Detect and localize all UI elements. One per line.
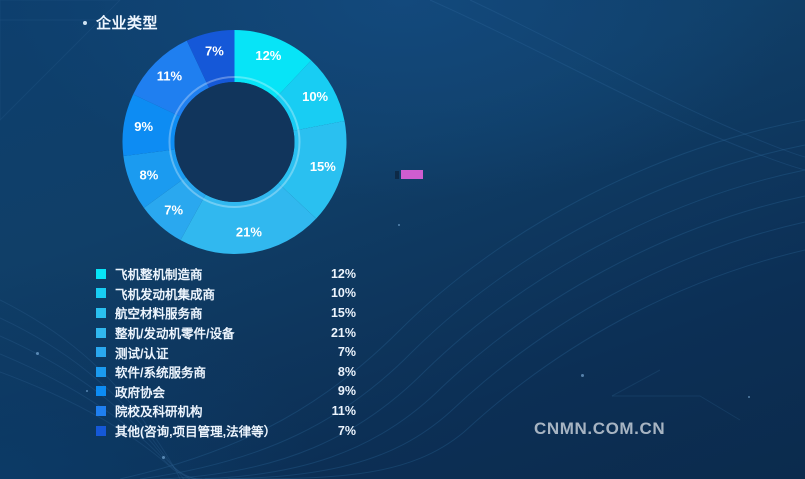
- legend-color-swatch: [96, 426, 106, 436]
- donut-slice-label: 12%: [255, 48, 281, 63]
- legend-color-swatch: [96, 386, 106, 396]
- enterprise-legend-row[interactable]: 政府协会9%: [96, 382, 356, 402]
- legend-value: 12%: [310, 267, 356, 281]
- enterprise-legend-row[interactable]: 整机/发动机零件/设备21%: [96, 323, 356, 343]
- bullet-dot-icon: [83, 21, 87, 25]
- legend-value: 10%: [310, 286, 356, 300]
- enterprise-type-donut-chart: 12%10%15%21%7%8%9%11%7%: [112, 28, 357, 256]
- legend-value: 8%: [310, 365, 356, 379]
- legend-label: 航空材料服务商: [115, 303, 310, 322]
- enterprise-legend-row[interactable]: 航空材料服务商15%: [96, 303, 356, 323]
- legend-label: 软件/系统服务商: [115, 362, 310, 381]
- legend-label: 其他(咨询,项目管理,法律等）: [115, 421, 310, 440]
- enterprise-legend-row[interactable]: 飞机发动机集成商10%: [96, 284, 356, 304]
- legend-value: 7%: [310, 424, 356, 438]
- enterprise-legend-row[interactable]: 飞机整机制造商12%: [96, 264, 356, 284]
- legend-label: 飞机发动机集成商: [115, 284, 310, 303]
- legend-color-swatch: [96, 367, 106, 377]
- enterprise-legend-row[interactable]: 测试/认证7%: [96, 342, 356, 362]
- legend-color-swatch: [96, 288, 106, 298]
- render-artifact-dot: [395, 171, 399, 179]
- legend-label: 飞机整机制造商: [115, 264, 310, 283]
- donut-slice-label: 7%: [205, 44, 224, 59]
- legend-color-swatch: [96, 269, 106, 279]
- legend-value: 9%: [310, 384, 356, 398]
- legend-color-swatch: [96, 347, 106, 357]
- legend-color-swatch: [96, 406, 106, 416]
- legend-value: 11%: [310, 404, 356, 418]
- legend-value: 21%: [310, 326, 356, 340]
- donut-slice-label: 10%: [302, 89, 328, 104]
- slide-canvas: 企业类型 12%10%15%21%7%8%9%11%7% 飞机整机制造商12%飞…: [0, 0, 805, 479]
- role-breakdown-panel: 按职务分 18%22%23%20%11%6% 董事长/总裁/总经理/CEO18%…: [420, 0, 805, 479]
- legend-color-swatch: [96, 308, 106, 318]
- donut-slice-label: 15%: [310, 159, 336, 174]
- donut-slice-label: 9%: [134, 119, 153, 134]
- legend-color-swatch: [96, 328, 106, 338]
- enterprise-type-legend: 飞机整机制造商12%飞机发动机集成商10%航空材料服务商15%整机/发动机零件/…: [96, 264, 356, 440]
- enterprise-legend-row[interactable]: 其他(咨询,项目管理,法律等）7%: [96, 421, 356, 441]
- legend-value: 7%: [310, 345, 356, 359]
- donut-slice-label: 8%: [140, 167, 159, 182]
- donut-slice-label: 7%: [164, 202, 183, 217]
- donut-slice-label: 11%: [157, 68, 183, 83]
- legend-value: 15%: [310, 306, 356, 320]
- enterprise-type-panel: 企业类型 12%10%15%21%7%8%9%11%7% 飞机整机制造商12%飞…: [0, 0, 420, 479]
- donut-slice-label: 21%: [236, 224, 262, 239]
- site-watermark: CNMN.COM.CN: [534, 419, 665, 439]
- legend-label: 整机/发动机零件/设备: [115, 323, 310, 342]
- enterprise-legend-row[interactable]: 院校及科研机构11%: [96, 401, 356, 421]
- enterprise-legend-row[interactable]: 软件/系统服务商8%: [96, 362, 356, 382]
- legend-label: 院校及科研机构: [115, 401, 310, 420]
- legend-label: 政府协会: [115, 382, 310, 401]
- legend-label: 测试/认证: [115, 343, 310, 362]
- donut-hole: [175, 82, 295, 202]
